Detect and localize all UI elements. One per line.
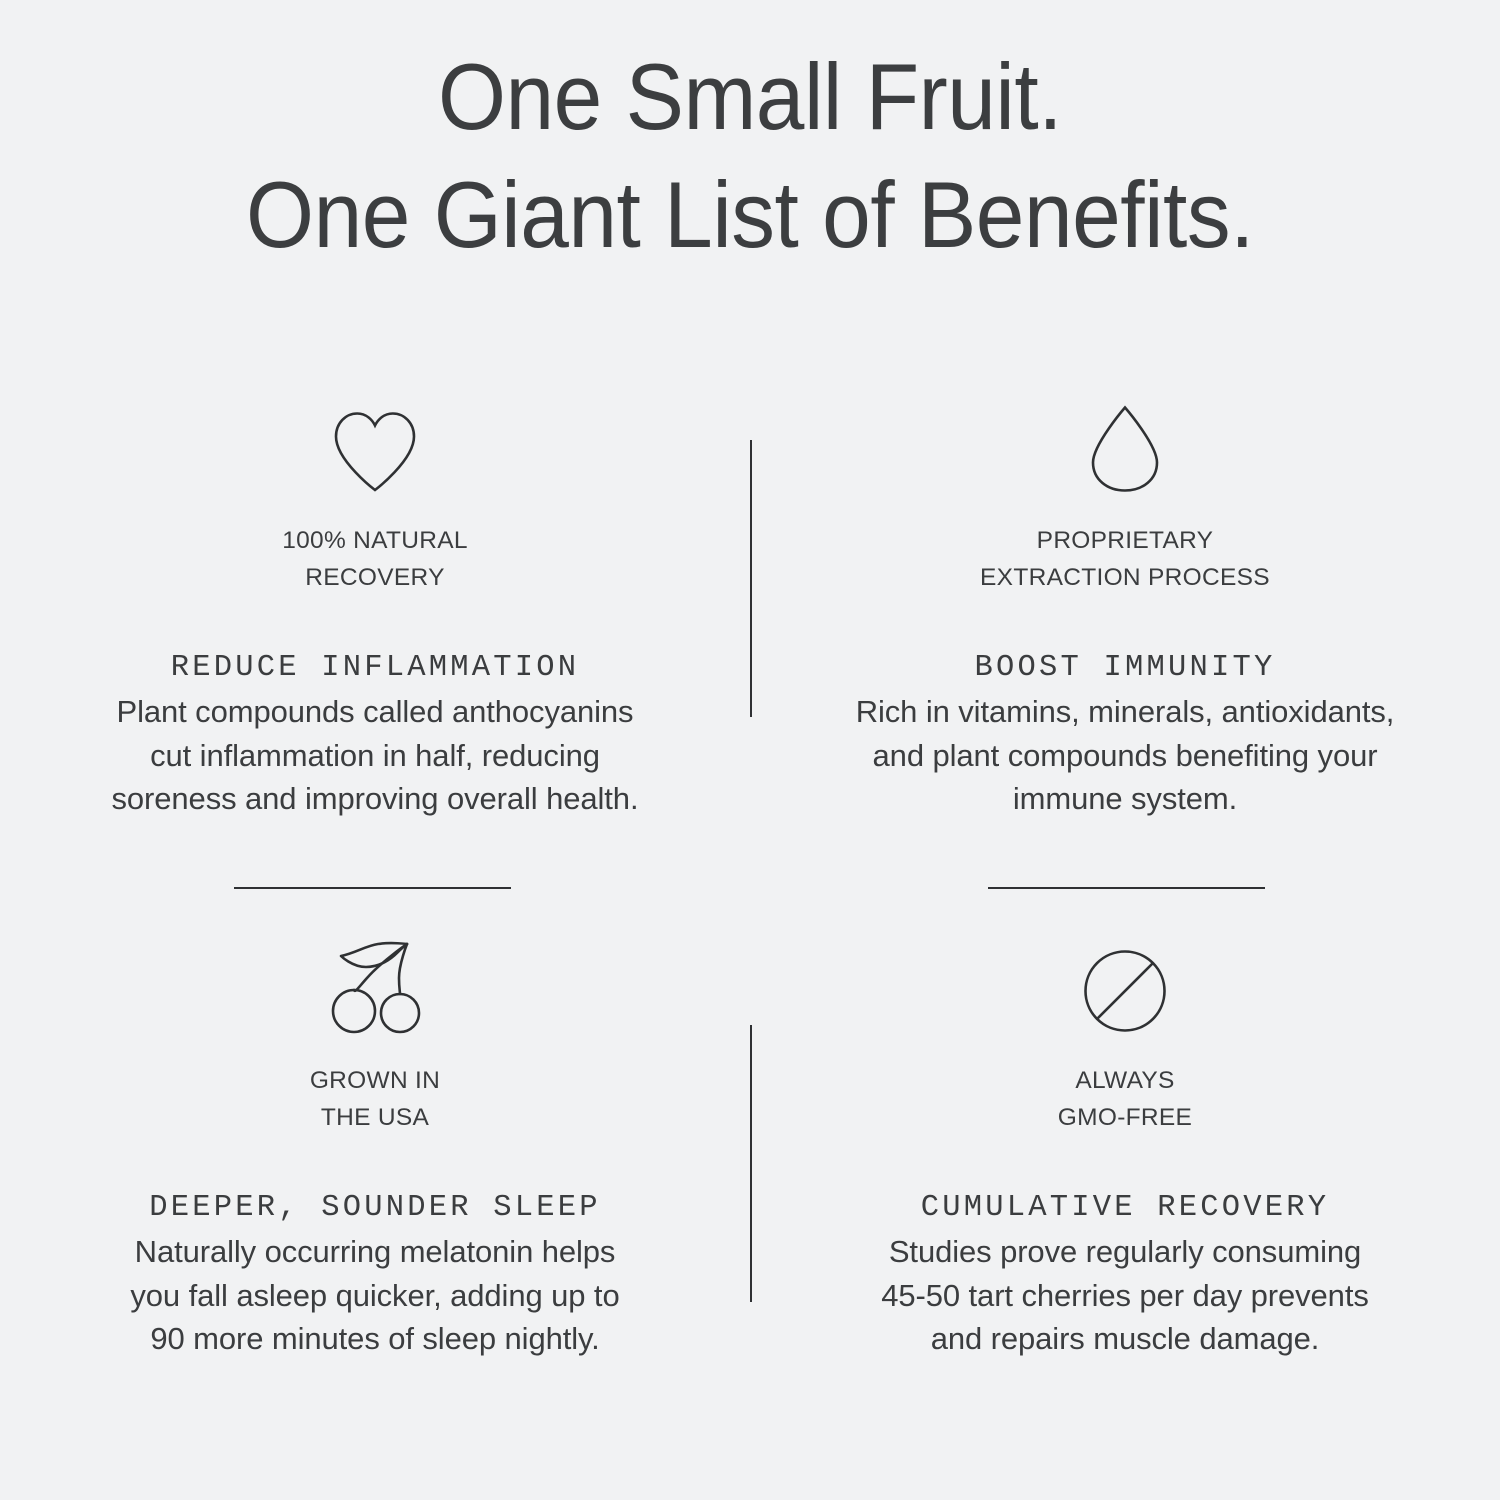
benefit-heading: DEEPER, SOUNDER SLEEP	[25, 1188, 725, 1228]
body-line-3: soreness and improving overall health.	[68, 777, 683, 821]
body-line-1: Rich in vitamins, minerals, antioxidants…	[818, 690, 1433, 734]
divider-horizontal-left	[234, 887, 511, 889]
page-title: One Small Fruit. One Giant List of Benef…	[0, 38, 1500, 274]
body-line-2: 45-50 tart cherries per day prevents	[818, 1274, 1433, 1318]
body-line-3: immune system.	[818, 777, 1433, 821]
badge-line-2: RECOVERY	[25, 559, 725, 596]
heart-icon	[25, 390, 725, 494]
headline-line-2: One Giant List of Benefits.	[53, 156, 1448, 274]
no-gmo-circle-slash-icon	[775, 930, 1475, 1034]
benefit-body: Studies prove regularly consuming 45-50 …	[818, 1230, 1433, 1361]
divider-vertical-top	[750, 440, 752, 717]
badge-label: GROWN IN THE USA	[25, 1062, 725, 1136]
divider-horizontal-right	[988, 887, 1265, 889]
body-line-2: cut inflammation in half, reducing	[68, 734, 683, 778]
benefit-body: Rich in vitamins, minerals, antioxidants…	[818, 690, 1433, 821]
benefit-card-boost-immunity: PROPRIETARY EXTRACTION PROCESS BOOST IMM…	[775, 390, 1475, 821]
droplet-icon	[775, 390, 1475, 494]
body-line-1: Studies prove regularly consuming	[818, 1230, 1433, 1274]
badge-line-2: THE USA	[25, 1099, 725, 1136]
badge-line-2: EXTRACTION PROCESS	[775, 559, 1475, 596]
benefit-card-deeper-sounder-sleep: GROWN IN THE USA DEEPER, SOUNDER SLEEP N…	[25, 930, 725, 1361]
benefit-body: Naturally occurring melatonin helps you …	[68, 1230, 683, 1361]
benefit-body: Plant compounds called anthocyanins cut …	[68, 690, 683, 821]
body-line-2: and plant compounds benefiting your	[818, 734, 1433, 778]
body-line-1: Plant compounds called anthocyanins	[68, 690, 683, 734]
divider-vertical-bottom	[750, 1025, 752, 1302]
badge-label: 100% NATURAL RECOVERY	[25, 522, 725, 596]
body-line-2: you fall asleep quicker, adding up to	[68, 1274, 683, 1318]
badge-line-1: PROPRIETARY	[775, 522, 1475, 559]
body-line-3: 90 more minutes of sleep nightly.	[68, 1317, 683, 1361]
benefit-card-cumulative-recovery: ALWAYS GMO-FREE CUMULATIVE RECOVERY Stud…	[775, 930, 1475, 1361]
benefit-heading: CUMULATIVE RECOVERY	[775, 1188, 1475, 1228]
body-line-1: Naturally occurring melatonin helps	[68, 1230, 683, 1274]
cherry-icon	[25, 930, 725, 1034]
badge-line-1: 100% NATURAL	[25, 522, 725, 559]
benefit-card-reduce-inflammation: 100% NATURAL RECOVERY REDUCE INFLAMMATIO…	[25, 390, 725, 821]
badge-label: ALWAYS GMO-FREE	[775, 1062, 1475, 1136]
benefit-heading: BOOST IMMUNITY	[775, 648, 1475, 688]
badge-line-1: ALWAYS	[775, 1062, 1475, 1099]
benefit-heading: REDUCE INFLAMMATION	[25, 648, 725, 688]
benefits-infographic: One Small Fruit. One Giant List of Benef…	[0, 0, 1500, 1500]
badge-label: PROPRIETARY EXTRACTION PROCESS	[775, 522, 1475, 596]
body-line-3: and repairs muscle damage.	[818, 1317, 1433, 1361]
badge-line-1: GROWN IN	[25, 1062, 725, 1099]
badge-line-2: GMO-FREE	[775, 1099, 1475, 1136]
headline-line-1: One Small Fruit.	[53, 38, 1448, 156]
